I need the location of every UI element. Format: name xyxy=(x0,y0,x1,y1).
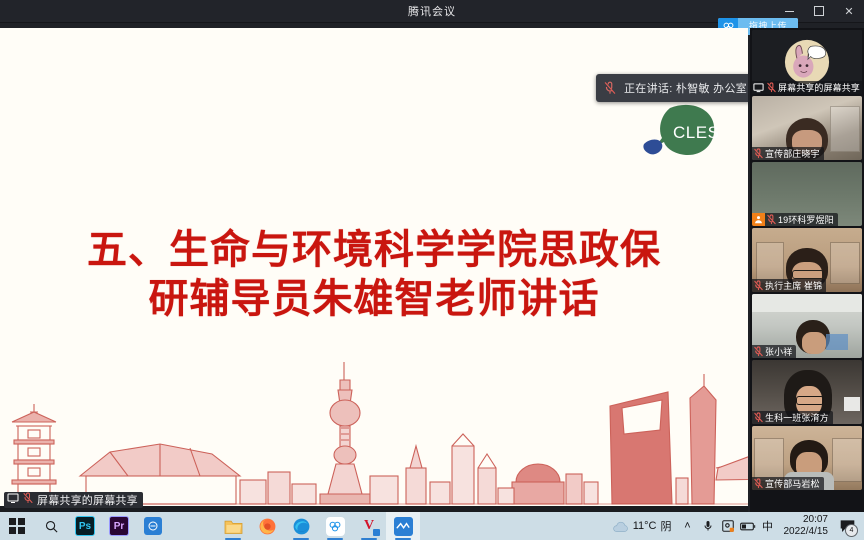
close-button[interactable]: ✕ xyxy=(834,0,864,22)
premiere-button[interactable]: Pr xyxy=(102,512,136,540)
window-title: 腾讯会议 xyxy=(408,3,456,19)
participant-name: 19环科罗煜阳 xyxy=(778,213,834,226)
mic-off-icon xyxy=(752,478,765,489)
participant-tile[interactable]: 张小祥 xyxy=(752,294,862,358)
tencent-meeting-button[interactable] xyxy=(318,512,352,540)
shared-screen-stage[interactable]: CLES 五、生命与环境科学学院思政保 研辅导员朱雄智老师讲话 xyxy=(0,28,748,512)
active-speaker-text: 正在讲话: 朴智敏 办公室 xyxy=(624,80,747,96)
windows-taskbar[interactable]: Ps Pr xyxy=(0,512,864,540)
mic-off-icon xyxy=(22,491,34,509)
firefox-button[interactable] xyxy=(250,512,284,540)
edge-button[interactable] xyxy=(284,512,318,540)
notification-center-button[interactable]: 4 xyxy=(834,512,860,540)
clock-time: 20:07 xyxy=(803,514,828,526)
participant-name: 宣传部庄晓宇 xyxy=(765,147,820,160)
mic-off-icon xyxy=(752,280,765,291)
maximize-button[interactable] xyxy=(804,0,834,22)
screen-share-icon xyxy=(7,491,19,509)
show-hidden-icons-button[interactable]: ˄ xyxy=(678,512,698,540)
screenshot-tool-icon[interactable] xyxy=(718,512,738,540)
participant-tile[interactable]: 屏幕共享的屏幕共享 xyxy=(752,30,862,94)
participant-name-bar: 宣传部马岩松 xyxy=(752,477,824,490)
mic-off-icon xyxy=(765,82,778,93)
search-button[interactable] xyxy=(34,512,68,540)
start-button[interactable] xyxy=(0,512,34,540)
participant-name: 执行主席 崔锦 xyxy=(765,279,822,292)
slide-title-line-2: 研辅导员朱雄智老师讲话 xyxy=(22,275,726,324)
notification-count: 4 xyxy=(845,524,858,537)
screen-share-status-label: 屏幕共享的屏幕共享 xyxy=(4,492,143,508)
microphone-icon[interactable] xyxy=(698,512,718,540)
participant-tile[interactable]: 宣传部庄晓宇 xyxy=(752,96,862,160)
weather-widget[interactable]: 11°C 阴 xyxy=(606,512,678,540)
mic-off-icon xyxy=(752,346,765,357)
weather-condition: 阴 xyxy=(661,518,672,534)
mic-off-icon xyxy=(765,214,778,225)
participant-name-bar: 生科一班张淯方 xyxy=(752,411,833,424)
cles-logo: CLES xyxy=(640,100,718,166)
participant-tile[interactable]: 执行主席 崔锦 xyxy=(752,228,862,292)
system-tray[interactable]: 11°C 阴 ˄ xyxy=(606,512,864,540)
mic-off-icon xyxy=(596,81,624,95)
v-app-button[interactable]: V xyxy=(352,512,386,540)
host-badge-icon xyxy=(752,213,765,226)
photoshop-button[interactable]: Ps xyxy=(68,512,102,540)
participant-tile[interactable]: 19环科罗煜阳 xyxy=(752,162,862,226)
participant-tile[interactable]: 宣传部马岩松 xyxy=(752,426,862,490)
battery-icon[interactable] xyxy=(738,512,758,540)
clock[interactable]: 20:07 2022/4/15 xyxy=(778,512,835,540)
ime-indicator[interactable]: 中 xyxy=(758,512,778,540)
participant-name: 张小祥 xyxy=(765,345,792,358)
tencent-meeting-window: 腾讯会议 ✕ 拖拽上传 CLES xyxy=(0,0,864,540)
file-explorer-button[interactable] xyxy=(216,512,250,540)
participant-name-bar: 张小祥 xyxy=(752,345,796,358)
cloud-icon xyxy=(612,520,629,533)
participant-filmstrip[interactable]: 屏幕共享的屏幕共享 宣传部庄晓宇 xyxy=(750,28,864,512)
participant-name: 宣传部马岩松 xyxy=(765,477,820,490)
participant-name-bar: 19环科罗煜阳 xyxy=(752,213,838,226)
slide-title-line-1: 五、生命与环境科学学院思政保 xyxy=(22,226,726,275)
screen-share-icon xyxy=(752,82,765,93)
chevron-up-icon: ˄ xyxy=(684,520,690,532)
clock-date: 2022/4/15 xyxy=(784,526,829,538)
mic-off-icon xyxy=(752,148,765,159)
screen-share-status-text: 屏幕共享的屏幕共享 xyxy=(37,492,138,508)
participant-name: 屏幕共享的屏幕共享 xyxy=(778,81,860,94)
participant-name: 生科一班张淯方 xyxy=(765,411,829,424)
slide-title: 五、生命与环境科学学院思政保 研辅导员朱雄智老师讲话 xyxy=(0,226,748,324)
participant-name-bar: 执行主席 崔锦 xyxy=(752,279,826,292)
svg-text:CLES: CLES xyxy=(673,123,718,142)
participant-name-bar: 宣传部庄晓宇 xyxy=(752,147,824,160)
weather-temperature: 11°C xyxy=(633,520,657,532)
app-blue-button[interactable] xyxy=(136,512,170,540)
wave-app-button[interactable] xyxy=(386,512,420,540)
participant-name-bar: 屏幕共享的屏幕共享 xyxy=(752,81,862,94)
participant-tile[interactable]: 生科一班张淯方 xyxy=(752,360,862,424)
active-speaker-banner: 正在讲话: 朴智敏 办公室 xyxy=(596,74,748,102)
mic-off-icon xyxy=(752,412,765,423)
shanghai-skyline-illustration xyxy=(0,356,748,506)
